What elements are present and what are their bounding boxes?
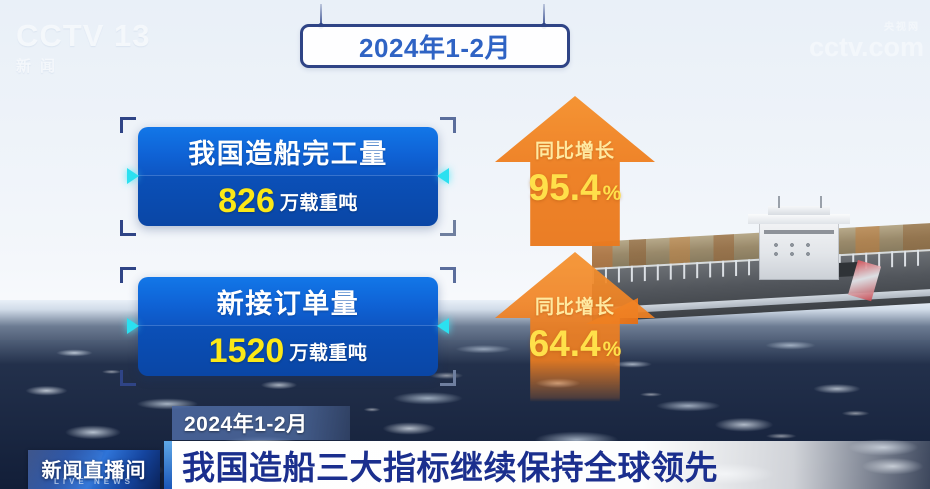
cyan-arrow-right-icon [437,318,449,334]
stat-card-value-row: 1520 万载重吨 [138,326,438,376]
bracket-bottom-right [440,370,456,386]
bracket-top-right [440,267,456,283]
banner-pin-right [543,4,545,26]
stat-value: 1520 [209,332,285,371]
bracket-bottom-right [440,220,456,236]
lower-third-date-label: 2024年1-2月 [184,408,308,438]
headline-text: 我国造船三大指标继续保持全球领先 [182,441,718,489]
bracket-bottom-left [120,220,136,236]
lower-third-date: 2024年1-2月 [172,406,350,440]
period-banner-label: 2024年1-2月 [359,28,511,65]
cyan-arrow-left-icon [127,318,139,334]
cyan-arrow-left-icon [127,168,139,184]
bracket-bottom-left [120,370,136,386]
stat-card-header: 我国造船完工量 [138,127,438,176]
stat-unit: 万载重吨 [289,338,367,365]
ship-mast-left [778,196,780,208]
stat-title: 我国造船完工量 [188,132,388,171]
up-arrow-icon [495,252,655,402]
stat-value: 826 [218,182,275,221]
ship-bridge-deck [748,214,850,224]
ship-porthole-grid [770,241,828,259]
bracket-top-left [120,117,136,133]
bracket-top-right [440,117,456,133]
period-banner: 2024年1-2月 [300,24,570,68]
stat-card-body: 新接订单量 1520 万载重吨 [138,277,438,376]
stat-card-new-orders: 新接订单量 1520 万载重吨 [138,277,438,376]
ship-mast-right [820,196,822,208]
broadcast-frame: 2024年1-2月 我国造船完工量 826 万载重吨 同比增长 95.4% [0,0,930,489]
growth-arrow-new-orders: 同比增长 64.4% [495,252,655,402]
banner-pin-left [320,4,322,26]
program-subtitle: LIVE NEWS [28,477,160,486]
lower-third-headline: 我国造船三大指标继续保持全球领先 [172,441,930,489]
channel-program-badge: 新闻直播间 LIVE NEWS [28,450,160,489]
up-arrow-icon [495,96,655,246]
stat-title: 新接订单量 [217,282,360,321]
stat-card-body: 我国造船完工量 826 万载重吨 [138,127,438,226]
growth-arrow-completion: 同比增长 95.4% [495,96,655,246]
cyan-arrow-right-icon [437,168,449,184]
stat-card-header: 新接订单量 [138,277,438,326]
stat-card-shipbuilding-completion: 我国造船完工量 826 万载重吨 [138,127,438,226]
bracket-top-left [120,267,136,283]
stat-unit: 万载重吨 [280,188,358,215]
stat-card-value-row: 826 万载重吨 [138,176,438,226]
ship-bridge-windows [764,230,834,234]
